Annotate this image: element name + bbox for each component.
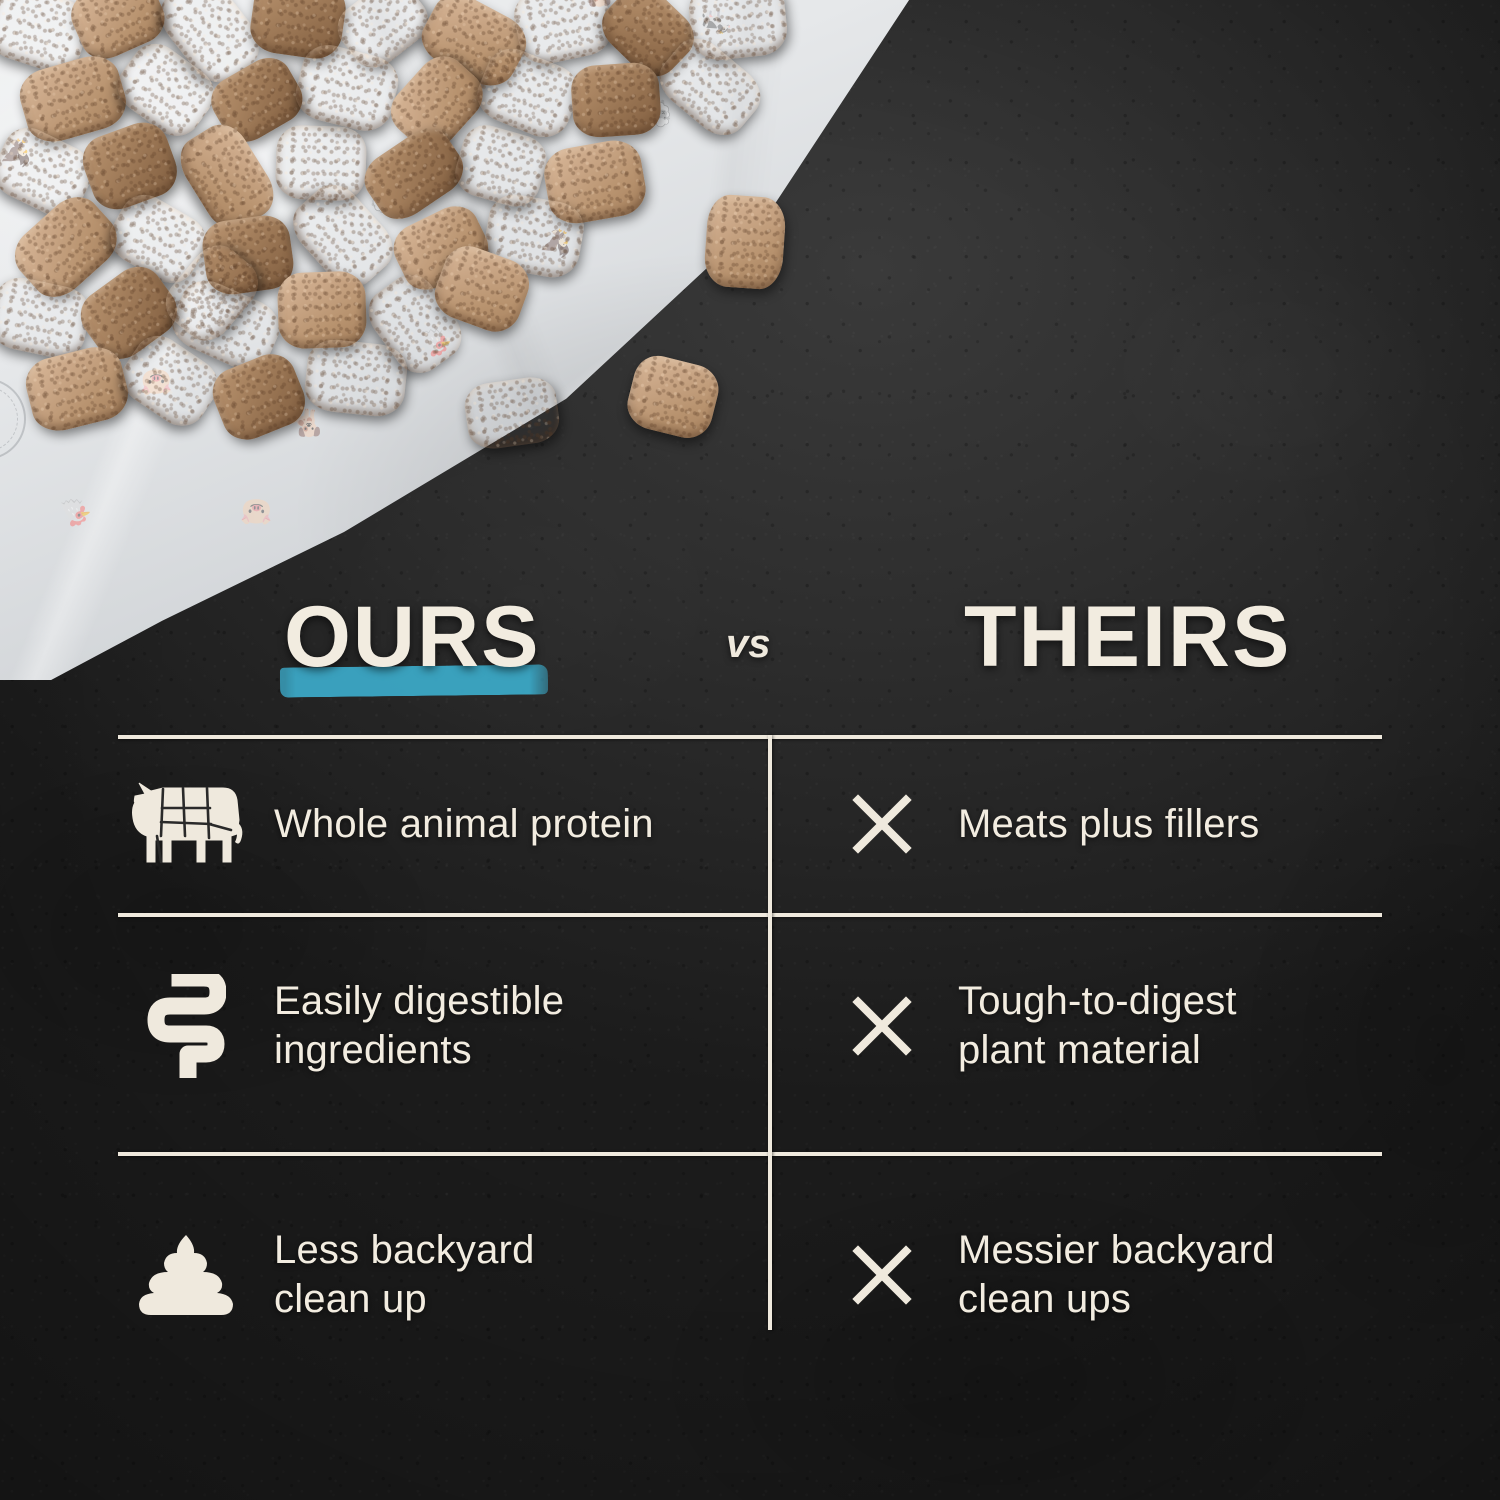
table-row: Less backyard clean up [126,1200,726,1350]
row-label-ours: Whole animal protein [274,800,654,849]
cow-butcher-cuts-icon [126,778,246,870]
row-label-theirs: Tough-to-digest plant material [958,977,1237,1075]
row-label-theirs: Messier backyard clean ups [958,1226,1275,1324]
product-comparison-image: 🐄 🐷 🐕 🐔 🦅 🐑 🐄 🐕 🐷 🐔 🦅 🐑 🐕 A [0,0,1500,1500]
table-divider-column [768,735,772,1330]
x-mark-icon [834,1244,930,1306]
kibble-piece [277,270,368,349]
x-mark-icon [834,995,930,1057]
column-header-theirs: THEIRS [964,594,1291,680]
table-row: Whole animal protein [126,771,726,877]
row-label-theirs: Meats plus fillers [958,800,1259,849]
row-label-ours: Easily digestible ingredients [274,977,564,1075]
column-header-ours: OURS [284,594,540,680]
intestine-digestion-icon [126,974,246,1078]
table-divider-top [118,735,1382,739]
kibble-piece [303,337,410,419]
table-row: Tough-to-digest plant material [834,951,1394,1101]
table-row: Messier backyard clean ups [834,1200,1394,1350]
kibble-piece-stray [703,193,787,290]
comparison-headers: OURS vs THEIRS [118,594,1382,714]
pig-icon: 🐷 [240,500,273,527]
table-divider-row-1 [118,913,1382,917]
poop-icon [126,1231,246,1319]
table-divider-row-2 [118,1152,1382,1156]
row-label-ours: Less backyard clean up [274,1226,535,1324]
chicken-icon: 🐔 [59,499,93,527]
kibble-piece [570,61,663,139]
x-mark-icon [834,793,930,855]
table-row: Easily digestible ingredients [126,951,726,1101]
table-row: Meats plus fillers [834,771,1394,877]
vs-label: vs [726,622,771,667]
